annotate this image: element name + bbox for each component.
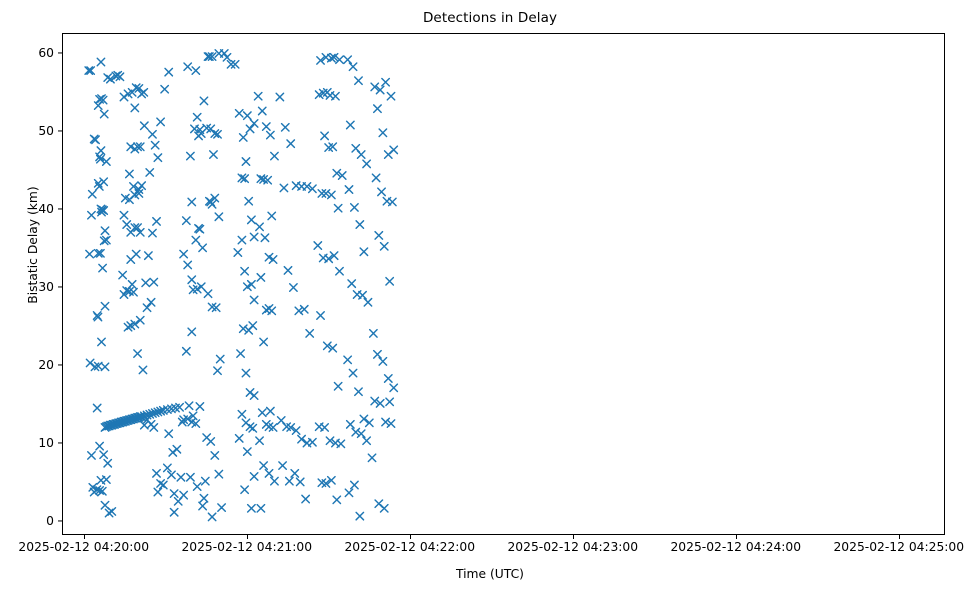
scatter-point bbox=[217, 355, 224, 362]
scatter-point bbox=[86, 250, 93, 257]
scatter-point bbox=[276, 93, 283, 100]
scatter-point bbox=[333, 496, 340, 503]
scatter-point bbox=[337, 440, 344, 447]
scatter-point bbox=[321, 424, 328, 431]
scatter-point bbox=[260, 338, 267, 345]
scatter-point bbox=[387, 420, 394, 427]
scatter-point bbox=[207, 438, 214, 445]
scatter-point bbox=[123, 221, 130, 228]
scatter-point bbox=[104, 460, 111, 467]
scatter-point bbox=[254, 93, 261, 100]
scatter-point bbox=[271, 477, 278, 484]
scatter-point bbox=[314, 242, 321, 249]
scatter-point bbox=[363, 160, 370, 167]
scatter-point bbox=[126, 170, 133, 177]
scatter-point bbox=[295, 307, 302, 314]
scatter-point bbox=[265, 470, 272, 477]
scatter-point bbox=[184, 261, 191, 268]
scatter-point bbox=[174, 498, 181, 505]
scatter-point bbox=[193, 113, 200, 120]
scatter-point bbox=[160, 481, 167, 488]
scatter-point bbox=[245, 197, 252, 204]
scatter-point bbox=[150, 424, 157, 431]
scatter-point bbox=[99, 264, 106, 271]
scatter-point bbox=[352, 428, 359, 435]
y-tick-label: 60 bbox=[4, 46, 54, 60]
scatter-point bbox=[357, 430, 364, 437]
scatter-point bbox=[248, 216, 255, 223]
scatter-point bbox=[317, 312, 324, 319]
scatter-point bbox=[347, 421, 354, 428]
x-tick-mark bbox=[247, 535, 248, 539]
scatter-point bbox=[287, 140, 294, 147]
scatter-point bbox=[199, 244, 206, 251]
x-tick-label: 2025-02-12 04:25:00 bbox=[789, 540, 980, 554]
scatter-point bbox=[390, 384, 397, 391]
scatter-point bbox=[227, 61, 234, 68]
scatter-point bbox=[298, 435, 305, 442]
scatter-point bbox=[250, 296, 257, 303]
scatter-point bbox=[210, 151, 217, 158]
scatter-point bbox=[165, 430, 172, 437]
scatter-point bbox=[301, 306, 308, 313]
scatter-point bbox=[165, 68, 172, 75]
scatter-point bbox=[235, 435, 242, 442]
scatter-point bbox=[242, 369, 249, 376]
scatter-point bbox=[183, 348, 190, 355]
scatter-point bbox=[151, 141, 158, 148]
scatter-point bbox=[345, 489, 352, 496]
scatter-point bbox=[386, 278, 393, 285]
scatter-point bbox=[296, 478, 303, 485]
scatter-point bbox=[382, 418, 389, 425]
scatter-point bbox=[150, 278, 157, 285]
scatter-point bbox=[188, 276, 195, 283]
scatter-point bbox=[379, 129, 386, 136]
scatter-point bbox=[235, 110, 242, 117]
scatter-point bbox=[200, 97, 207, 104]
scatter-point bbox=[328, 191, 335, 198]
scatter-point bbox=[334, 204, 341, 211]
scatter-point bbox=[363, 437, 370, 444]
scatter-point bbox=[390, 146, 397, 153]
scatter-point bbox=[344, 356, 351, 363]
scatter-point bbox=[101, 227, 108, 234]
scatter-point bbox=[372, 174, 379, 181]
scatter-point bbox=[188, 198, 195, 205]
scatter-series bbox=[63, 34, 944, 534]
scatter-point bbox=[193, 483, 200, 490]
chart-title: Detections in Delay bbox=[0, 10, 980, 26]
scatter-point bbox=[93, 404, 100, 411]
scatter-point bbox=[246, 125, 253, 132]
scatter-point bbox=[381, 243, 388, 250]
x-axis-label: Time (UTC) bbox=[0, 567, 980, 581]
scatter-point bbox=[101, 302, 108, 309]
scatter-point bbox=[249, 425, 256, 432]
scatter-point bbox=[250, 233, 257, 240]
scatter-point bbox=[187, 474, 194, 481]
scatter-point bbox=[143, 304, 150, 311]
scatter-point bbox=[347, 121, 354, 128]
y-tick-label: 0 bbox=[4, 514, 54, 528]
x-tick-mark bbox=[410, 535, 411, 539]
scatter-point bbox=[128, 281, 135, 288]
scatter-point bbox=[97, 58, 104, 65]
scatter-point bbox=[344, 56, 351, 63]
scatter-point bbox=[139, 366, 146, 373]
scatter-point bbox=[146, 169, 153, 176]
scatter-point bbox=[268, 307, 275, 314]
x-tick-mark bbox=[736, 535, 737, 539]
scatter-point bbox=[96, 442, 103, 449]
scatter-point bbox=[244, 448, 251, 455]
scatter-point bbox=[177, 474, 184, 481]
scatter-point bbox=[120, 211, 127, 218]
scatter-point bbox=[359, 292, 366, 299]
scatter-point bbox=[360, 415, 367, 422]
scatter-point bbox=[349, 63, 356, 70]
scatter-point bbox=[164, 464, 171, 471]
scatter-point bbox=[237, 350, 244, 357]
y-axis-label: Bistatic Delay (km) bbox=[26, 145, 40, 345]
scatter-point bbox=[263, 123, 270, 130]
scatter-point bbox=[381, 505, 388, 512]
plot-area bbox=[62, 33, 945, 535]
scatter-point bbox=[100, 451, 107, 458]
scatter-point bbox=[108, 508, 115, 515]
scatter-point bbox=[378, 188, 385, 195]
scatter-point bbox=[382, 79, 389, 86]
scatter-point bbox=[279, 462, 286, 469]
scatter-point bbox=[183, 217, 190, 224]
scatter-point bbox=[261, 234, 268, 241]
scatter-point bbox=[364, 299, 371, 306]
scatter-point bbox=[238, 411, 245, 418]
scatter-point bbox=[100, 110, 107, 117]
scatter-point bbox=[170, 509, 177, 516]
y-tick-label: 40 bbox=[4, 202, 54, 216]
scatter-point bbox=[241, 267, 248, 274]
scatter-point bbox=[223, 54, 230, 61]
scatter-point bbox=[360, 248, 367, 255]
scatter-point bbox=[286, 477, 293, 484]
scatter-point bbox=[208, 513, 215, 520]
scatter-point bbox=[154, 488, 161, 495]
scatter-point bbox=[145, 252, 152, 259]
scatter-point bbox=[309, 439, 316, 446]
scatter-point bbox=[351, 481, 358, 488]
scatter-point bbox=[250, 473, 257, 480]
scatter-point bbox=[334, 383, 341, 390]
scatter-point bbox=[267, 131, 274, 138]
scatter-point bbox=[214, 367, 221, 374]
y-tick-label: 30 bbox=[4, 280, 54, 294]
scatter-point bbox=[290, 284, 297, 291]
scatter-point bbox=[318, 190, 325, 197]
scatter-point bbox=[322, 190, 329, 197]
scatter-points bbox=[85, 50, 397, 521]
scatter-point bbox=[153, 218, 160, 225]
scatter-point bbox=[196, 403, 203, 410]
scatter-point bbox=[257, 505, 264, 512]
scatter-point bbox=[268, 212, 275, 219]
scatter-point bbox=[349, 369, 356, 376]
scatter-point bbox=[271, 152, 278, 159]
scatter-point bbox=[138, 182, 145, 189]
scatter-point bbox=[184, 63, 191, 70]
x-tick-mark bbox=[573, 535, 574, 539]
scatter-point bbox=[204, 290, 211, 297]
scatter-point bbox=[248, 505, 255, 512]
scatter-point bbox=[161, 86, 168, 93]
scatter-point bbox=[256, 437, 263, 444]
scatter-point bbox=[241, 486, 248, 493]
scatter-point bbox=[218, 504, 225, 511]
scatter-point bbox=[173, 446, 180, 453]
scatter-point bbox=[242, 158, 249, 165]
scatter-point bbox=[249, 322, 256, 329]
scatter-point bbox=[153, 470, 160, 477]
scatter-point bbox=[370, 330, 377, 337]
scatter-point bbox=[348, 280, 355, 287]
scatter-point bbox=[374, 105, 381, 112]
scatter-point bbox=[238, 236, 245, 243]
scatter-point bbox=[134, 350, 141, 357]
scatter-point bbox=[375, 232, 382, 239]
scatter-point bbox=[267, 407, 274, 414]
scatter-point bbox=[88, 211, 95, 218]
scatter-point bbox=[345, 186, 352, 193]
scatter-point bbox=[141, 122, 148, 129]
scatter-point bbox=[195, 132, 202, 139]
scatter-point bbox=[282, 124, 289, 131]
scatter-point bbox=[119, 271, 126, 278]
scatter-point bbox=[351, 204, 358, 211]
scatter-point bbox=[250, 120, 257, 127]
scatter-point bbox=[170, 490, 177, 497]
scatter-point bbox=[302, 495, 309, 502]
scatter-point bbox=[259, 409, 266, 416]
scatter-point bbox=[280, 184, 287, 191]
scatter-point bbox=[355, 388, 362, 395]
scatter-point bbox=[215, 470, 222, 477]
scatter-point bbox=[234, 249, 241, 256]
scatter-point bbox=[192, 67, 199, 74]
scatter-point bbox=[192, 236, 199, 243]
scatter-point bbox=[98, 338, 105, 345]
scatter-point bbox=[385, 375, 392, 382]
x-tick-mark bbox=[899, 535, 900, 539]
scatter-point bbox=[131, 104, 138, 111]
scatter-point bbox=[89, 190, 96, 197]
scatter-point bbox=[204, 53, 211, 60]
scatter-point bbox=[321, 132, 328, 139]
scatter-point bbox=[306, 330, 313, 337]
scatter-point bbox=[168, 471, 175, 478]
scatter-point bbox=[379, 358, 386, 365]
scatter-point bbox=[88, 452, 95, 459]
figure: Detections in Delay Bistatic Delay (km) … bbox=[0, 0, 980, 590]
scatter-point bbox=[257, 274, 264, 281]
scatter-point bbox=[336, 267, 343, 274]
scatter-point bbox=[187, 152, 194, 159]
scatter-point bbox=[356, 221, 363, 228]
scatter-point bbox=[221, 50, 228, 57]
y-tick-label: 50 bbox=[4, 124, 54, 138]
scatter-point bbox=[147, 299, 154, 306]
scatter-point bbox=[332, 93, 339, 100]
scatter-point bbox=[202, 477, 209, 484]
x-tick-mark bbox=[84, 535, 85, 539]
scatter-point bbox=[256, 223, 263, 230]
scatter-point bbox=[140, 89, 147, 96]
scatter-point bbox=[368, 454, 375, 461]
scatter-point bbox=[389, 198, 396, 205]
scatter-point bbox=[132, 250, 139, 257]
scatter-point bbox=[356, 512, 363, 519]
scatter-point bbox=[142, 279, 149, 286]
scatter-point bbox=[355, 77, 362, 84]
scatter-point bbox=[200, 495, 207, 502]
scatter-point bbox=[100, 178, 107, 185]
scatter-point bbox=[357, 151, 364, 158]
scatter-point bbox=[386, 398, 393, 405]
scatter-point bbox=[157, 118, 164, 125]
scatter-point bbox=[215, 213, 222, 220]
scatter-point bbox=[374, 351, 381, 358]
scatter-point bbox=[387, 93, 394, 100]
scatter-point bbox=[244, 112, 251, 119]
scatter-point bbox=[149, 131, 156, 138]
scatter-point bbox=[188, 328, 195, 335]
scatter-point bbox=[149, 229, 156, 236]
scatter-point bbox=[180, 250, 187, 257]
scatter-point bbox=[103, 476, 110, 483]
scatter-point bbox=[240, 325, 247, 332]
scatter-point bbox=[137, 316, 144, 323]
scatter-point bbox=[211, 452, 218, 459]
scatter-point bbox=[250, 392, 257, 399]
scatter-point bbox=[366, 419, 373, 426]
scatter-point bbox=[185, 402, 192, 409]
scatter-point bbox=[199, 502, 206, 509]
y-tick-label: 20 bbox=[4, 358, 54, 372]
scatter-point bbox=[291, 470, 298, 477]
scatter-point bbox=[154, 154, 161, 161]
scatter-point bbox=[103, 158, 110, 165]
scatter-point bbox=[259, 107, 266, 114]
scatter-point bbox=[240, 134, 247, 141]
scatter-point bbox=[284, 267, 291, 274]
y-tick-label: 10 bbox=[4, 436, 54, 450]
scatter-point bbox=[260, 462, 267, 469]
scatter-point bbox=[231, 61, 238, 68]
